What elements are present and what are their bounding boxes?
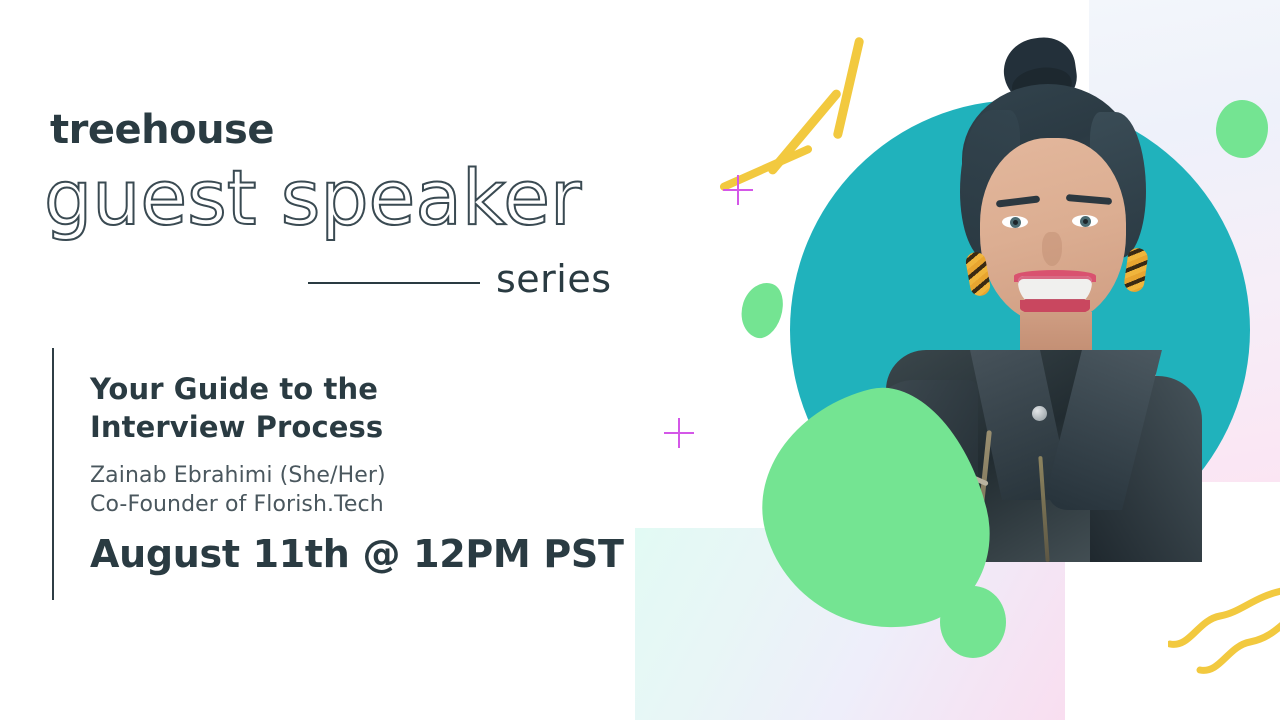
plus-mark-icon-1: [723, 175, 753, 205]
plus-mark-icon-2: [664, 418, 694, 448]
vertical-accent-rule: [52, 348, 54, 600]
series-row: series: [308, 258, 638, 304]
talk-title-line-2: Interview Process: [90, 408, 510, 446]
brand-name: treehouse: [50, 110, 274, 150]
jacket-stud: [1032, 406, 1047, 421]
eye-left: [1002, 216, 1028, 228]
yellow-squiggles-icon: [1168, 586, 1280, 676]
nose: [1042, 232, 1062, 266]
series-word: series: [496, 258, 612, 302]
eye-right: [1072, 215, 1098, 227]
green-blob-small-shape: [940, 586, 1006, 658]
green-blob-mid-shape: [734, 277, 789, 343]
speaker-name: Zainab Ebrahimi (She/Her): [90, 460, 386, 491]
event-datetime: August 11th @ 12PM PST: [90, 534, 624, 576]
talk-title-line-1: Your Guide to the: [90, 370, 510, 408]
talk-title: Your Guide to the Interview Process: [90, 370, 510, 447]
headline-outline: guest speaker: [44, 158, 581, 238]
series-divider-rule: [308, 282, 480, 284]
speaker-role: Co-Founder of Florish.Tech: [90, 489, 384, 520]
promo-slide: treehouse guest speaker series Your Guid…: [0, 0, 1280, 720]
